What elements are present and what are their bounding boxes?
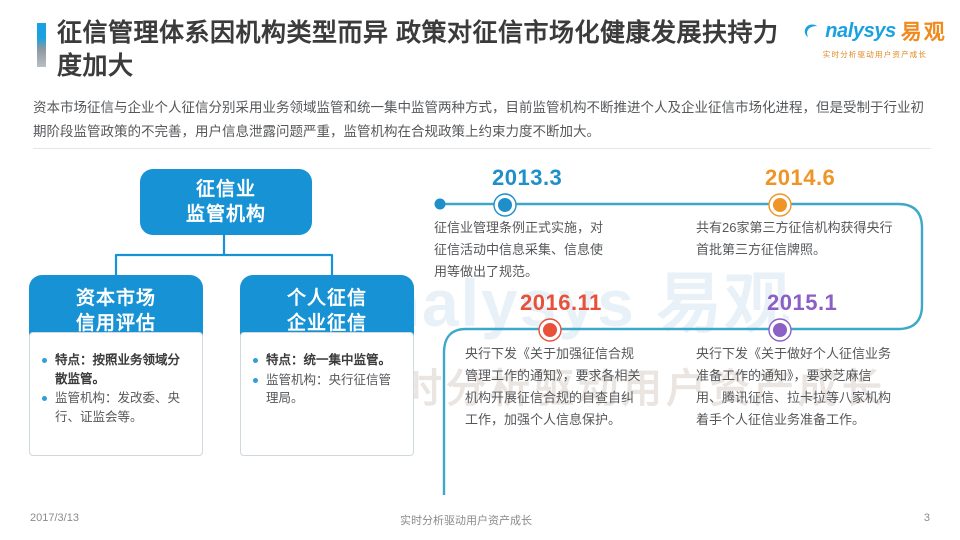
timeline-dot-2 [767, 192, 793, 218]
org-left-bullet-list: 特点：按照业务领域分散监管。 监管机构：发改委、央行、证监会等。 [40, 351, 192, 426]
list-item: 监管机构：发改委、央行、证监会等。 [40, 389, 192, 426]
timeline-desc-2: 共有26家第三方征信机构获得央行首批第三方征信牌照。 [696, 217, 896, 261]
timeline-year-4: 2015.1 [767, 290, 837, 316]
timeline-desc-3: 央行下发《关于加强征信合规管理工作的通知》，要求各相关机构开展征信合规的自查自纠… [465, 343, 643, 431]
logo-cn-text: 易观 [901, 16, 947, 46]
header-divider [33, 148, 931, 149]
org-right-title-line1: 个人征信 [287, 288, 367, 309]
org-right-details-card: 特点：统一集中监管。 监管机构：央行征信管理局。 [240, 332, 414, 456]
timeline-dot-4 [767, 317, 793, 343]
list-item: 监管机构：央行征信管理局。 [251, 371, 403, 408]
brand-logo: nalysys 易观 实时分析驱动用户资产成长 [802, 16, 948, 66]
org-connector-lines [29, 233, 419, 281]
timeline-dot-1 [492, 192, 518, 218]
title-accent-bar [37, 23, 46, 67]
timeline-year-1: 2013.3 [492, 165, 562, 191]
timeline-dot-3 [537, 317, 563, 343]
policy-timeline: 2013.3 征信业管理条例正式实施，对征信活动中信息采集、信息使用等做出了规范… [430, 155, 960, 505]
org-root-line2: 监管机构 [186, 204, 266, 225]
timeline-desc-4: 央行下发《关于做好个人征信业务准备工作的通知》，要求芝麻信用、腾讯征信、拉卡拉等… [696, 343, 896, 431]
org-root-box: 征信业 监管机构 [140, 169, 312, 235]
page-footer: 2017/3/13 实时分析驱动用户资产成长 3 [0, 500, 960, 540]
logo-tagline: 实时分析驱动用户资产成长 [802, 49, 948, 60]
footer-page-number: 3 [924, 512, 930, 524]
logo-en-text: nalysys [825, 20, 896, 43]
page-header: 征信管理体系因机构类型而异 政策对征信市场化健康发展扶持力度加大 nalysys… [0, 0, 960, 86]
org-right-bullet-list: 特点：统一集中监管。 监管机构：央行征信管理局。 [251, 351, 403, 408]
org-right-title-line2: 企业征信 [287, 313, 367, 334]
footer-date: 2017/3/13 [30, 512, 79, 524]
list-item: 特点：统一集中监管。 [251, 351, 403, 370]
analysys-swirl-icon [803, 23, 820, 40]
org-left-title-line2: 信用评估 [76, 313, 156, 334]
timeline-year-3: 2016.11 [520, 290, 602, 316]
intro-paragraph: 资本市场征信与企业个人征信分别采用业务领域监管和统一集中监管两种方式，目前监管机… [33, 96, 931, 144]
org-diagram: 征信业 监管机构 资本市场 信用评估 个人征信 企业征信 特点：按照业务领域分散… [0, 160, 440, 500]
timeline-desc-1: 征信业管理条例正式实施，对征信活动中信息采集、信息使用等做出了规范。 [434, 217, 612, 283]
timeline-start-dot [435, 199, 446, 210]
org-left-details-card: 特点：按照业务领域分散监管。 监管机构：发改委、央行、证监会等。 [29, 332, 203, 456]
footer-slogan: 实时分析驱动用户资产成长 [400, 512, 532, 528]
list-item: 特点：按照业务领域分散监管。 [40, 351, 192, 388]
page-title: 征信管理体系因机构类型而异 政策对征信市场化健康发展扶持力度加大 [57, 17, 797, 83]
org-root-line1: 征信业 [196, 179, 256, 200]
org-left-title-line1: 资本市场 [76, 288, 156, 309]
timeline-year-2: 2014.6 [765, 165, 835, 191]
